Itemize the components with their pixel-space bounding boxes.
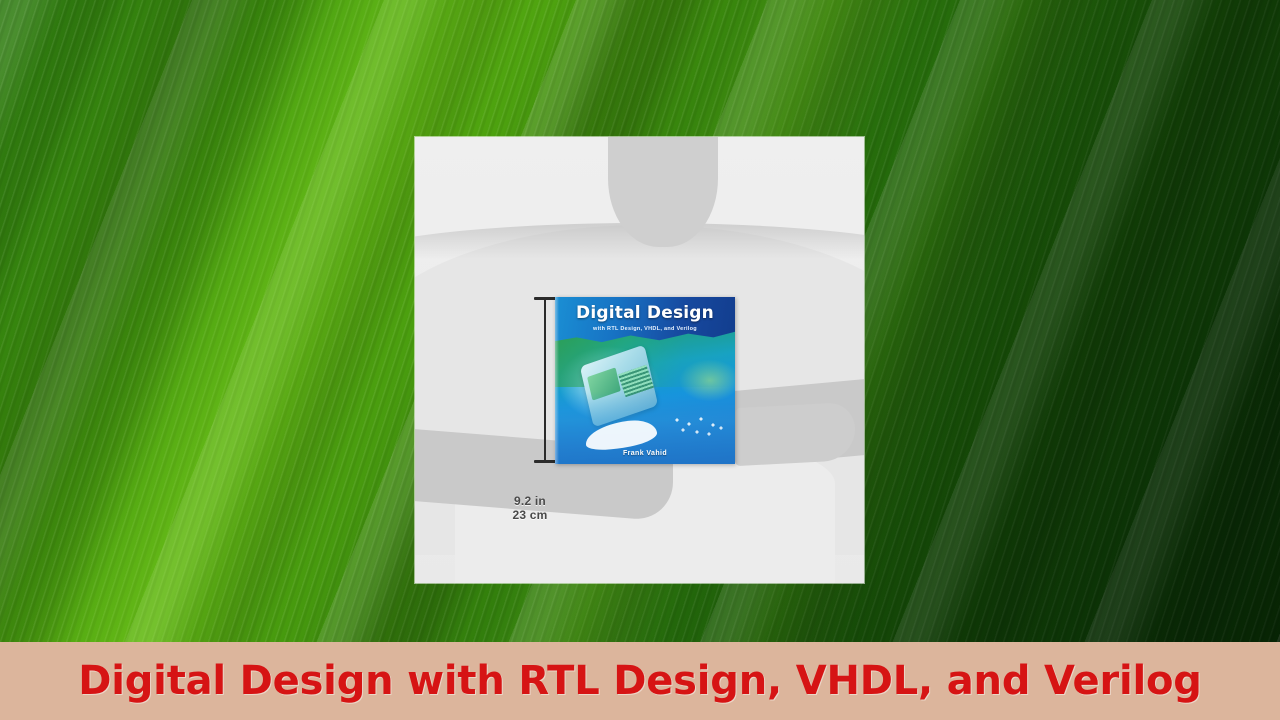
book-cover-author: Frank Vahid [555, 450, 735, 457]
book-cover-image[interactable]: Digital Design with RTL Design, VHDL, an… [555, 297, 735, 464]
mannequin-hand-shape [735, 402, 855, 466]
product-size-preview-panel: 9.2 in 23 cm Digital Design with RTL Des… [415, 137, 864, 583]
book-cover-subtitle: with RTL Design, VHDL, and Verilog [555, 326, 735, 332]
dimension-inches: 9.2 in [499, 494, 561, 508]
bottom-title-banner: Digital Design with RTL Design, VHDL, an… [0, 642, 1280, 720]
book-cover-dot-pattern [671, 416, 729, 438]
caliper-bottom-cap [534, 460, 556, 463]
height-measurement-caliper-icon [534, 295, 556, 465]
page-title: Digital Design with RTL Design, VHDL, an… [78, 658, 1202, 704]
dimension-centimeters: 23 cm [499, 508, 561, 522]
caliper-stem [544, 299, 546, 461]
screenshot-root: 9.2 in 23 cm Digital Design with RTL Des… [0, 0, 1280, 720]
book-cover-title: Digital Design [555, 303, 735, 323]
dimension-label: 9.2 in 23 cm [499, 494, 561, 522]
book-cover-spine-highlight [555, 297, 559, 464]
